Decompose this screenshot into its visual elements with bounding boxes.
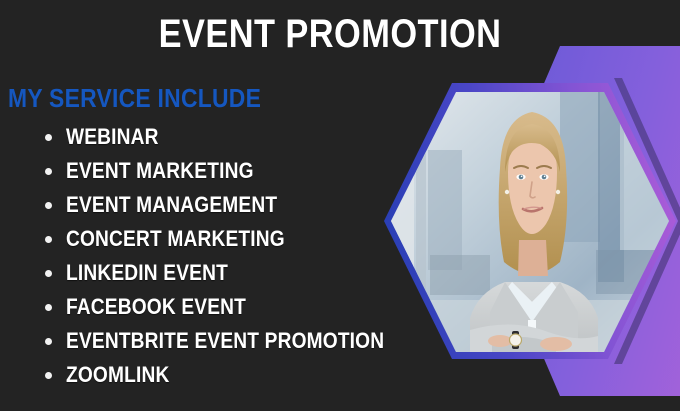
list-item: EVENT MANAGEMENT — [40, 188, 440, 222]
service-label: EVENT MANAGEMENT — [66, 188, 277, 222]
bullet-icon — [45, 270, 52, 277]
service-label: FACEBOOK EVENT — [66, 290, 246, 324]
bullet-icon — [45, 134, 52, 141]
list-item: EVENTBRITE EVENT PROMOTION — [40, 324, 440, 358]
bullet-icon — [45, 168, 52, 175]
bullet-icon — [45, 236, 52, 243]
list-item: ZOOMLINK — [40, 358, 440, 392]
back-purple-hexagon — [485, 46, 680, 396]
service-label: WEBINAR — [66, 120, 159, 154]
services-heading: MY SERVICE INCLUDE — [8, 85, 261, 111]
bullet-icon — [45, 338, 52, 345]
list-item: WEBINAR — [40, 120, 440, 154]
bullet-icon — [45, 372, 52, 379]
service-label: CONCERT MARKETING — [66, 222, 285, 256]
list-item: FACEBOOK EVENT — [40, 290, 440, 324]
bullet-icon — [45, 202, 52, 209]
list-item: EVENT MARKETING — [40, 154, 440, 188]
list-item: LINKEDIN EVENT — [40, 256, 440, 290]
service-label: LINKEDIN EVENT — [66, 256, 228, 290]
service-label: EVENT MARKETING — [66, 154, 254, 188]
page-title: EVENT PROMOTION — [46, 14, 614, 54]
hexagon-separation-gap — [614, 78, 680, 364]
list-item: CONCERT MARKETING — [40, 222, 440, 256]
service-label: ZOOMLINK — [66, 358, 169, 392]
event-promotion-graphic: EVENT PROMOTION MY SERVICE INCLUDE WEBIN… — [0, 0, 680, 411]
bullet-icon — [45, 304, 52, 311]
service-label: EVENTBRITE EVENT PROMOTION — [66, 324, 384, 358]
service-list: WEBINAR EVENT MARKETING EVENT MANAGEMENT… — [40, 120, 440, 392]
